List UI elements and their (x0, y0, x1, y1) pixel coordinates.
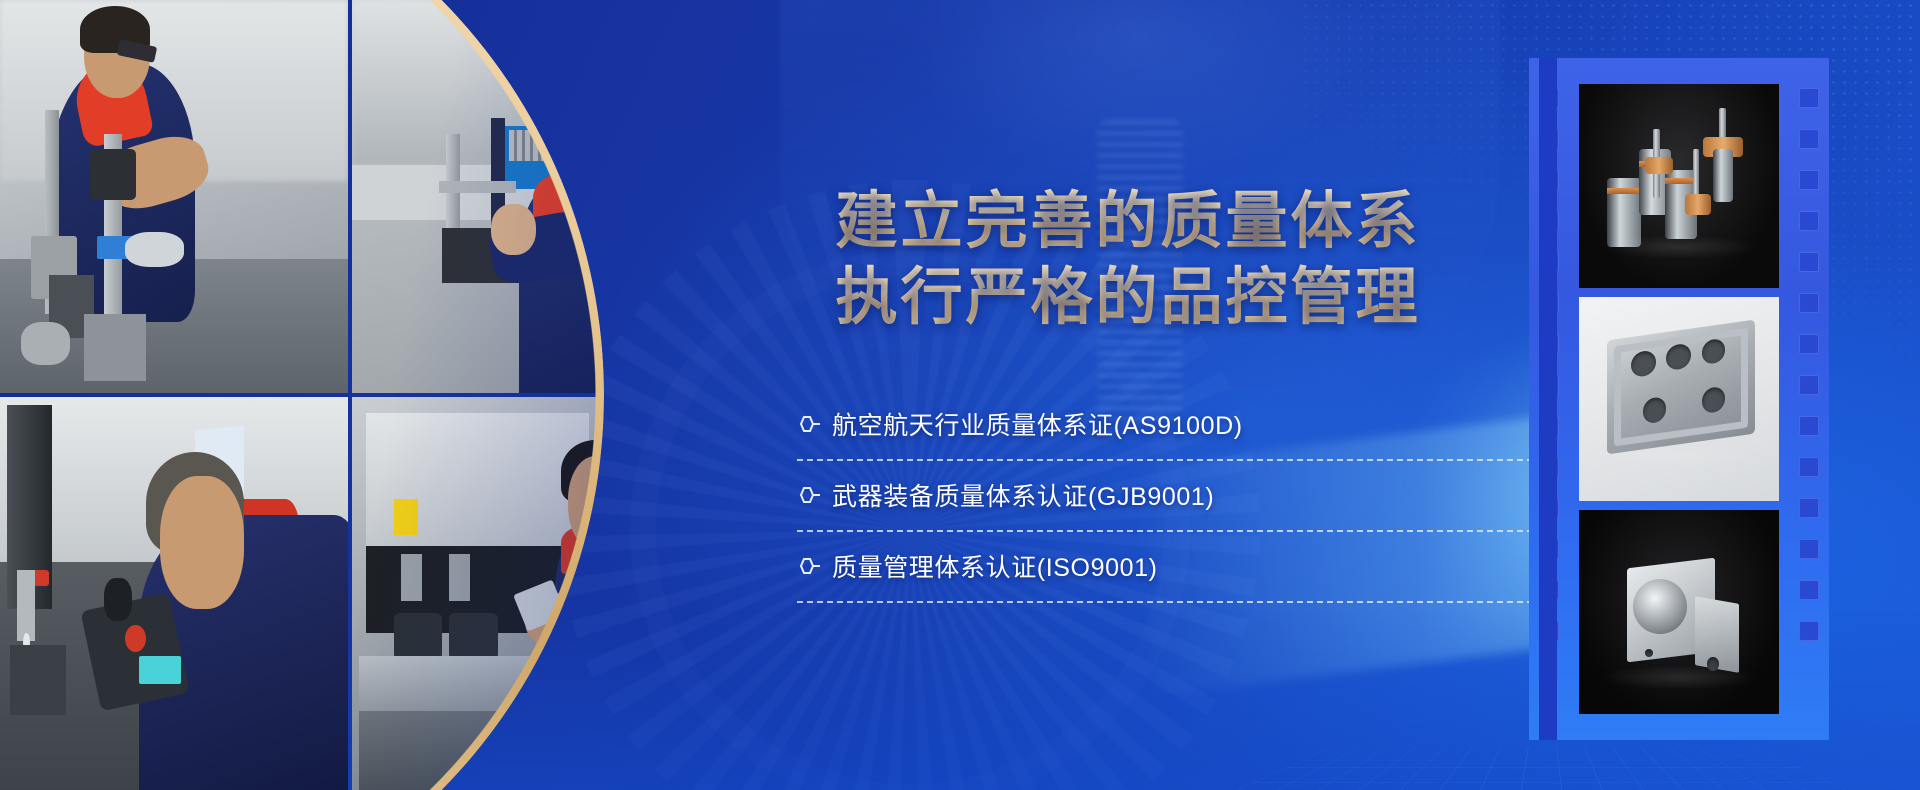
certification-item: 武器装备质量体系认证(GJB9001) (795, 469, 1435, 540)
certification-list: 航空航天行业质量体系证(AS9100D) 武器装备质量体系认证(GJB9001) (795, 398, 1435, 611)
filmstrip-perforations-left (1539, 88, 1559, 710)
certification-label: 武器装备质量体系认证(GJB9001) (832, 477, 1214, 513)
product-photo-2 (1579, 297, 1779, 501)
product-photo-1 (1579, 84, 1779, 288)
certification-divider (797, 459, 1603, 461)
product-filmstrip (1529, 58, 1829, 740)
filmstrip-perforations-right (1799, 88, 1819, 710)
quality-system-banner: 建立完善的质量体系 执行严格的品控管理 航空航天行业质量体系证(AS9100D) (0, 0, 1920, 790)
product-photo-3 (1579, 510, 1779, 714)
certification-item: 航空航天行业质量体系证(AS9100D) (795, 398, 1435, 469)
hexagon-bullet-icon (795, 415, 821, 433)
certification-divider (797, 601, 1603, 603)
certification-label: 航空航天行业质量体系证(AS9100D) (832, 406, 1243, 442)
collage-photo-4 (352, 397, 700, 790)
photo-collage (0, 0, 700, 790)
collage-photo-1 (0, 0, 348, 393)
headline-line-1: 建立完善的质量体系 (788, 184, 1468, 260)
headline-line-2: 执行严格的品控管理 (788, 260, 1468, 336)
certification-item: 质量管理体系认证(ISO9001) (795, 540, 1435, 611)
collage-photo-2 (352, 0, 700, 393)
certification-label: 质量管理体系认证(ISO9001) (832, 548, 1158, 584)
hexagon-bullet-icon (795, 486, 821, 504)
hexagon-bullet-icon (795, 557, 821, 575)
collage-photo-3 (0, 397, 348, 790)
headline-block: 建立完善的质量体系 执行严格的品控管理 (788, 184, 1468, 335)
certification-divider (797, 530, 1603, 532)
